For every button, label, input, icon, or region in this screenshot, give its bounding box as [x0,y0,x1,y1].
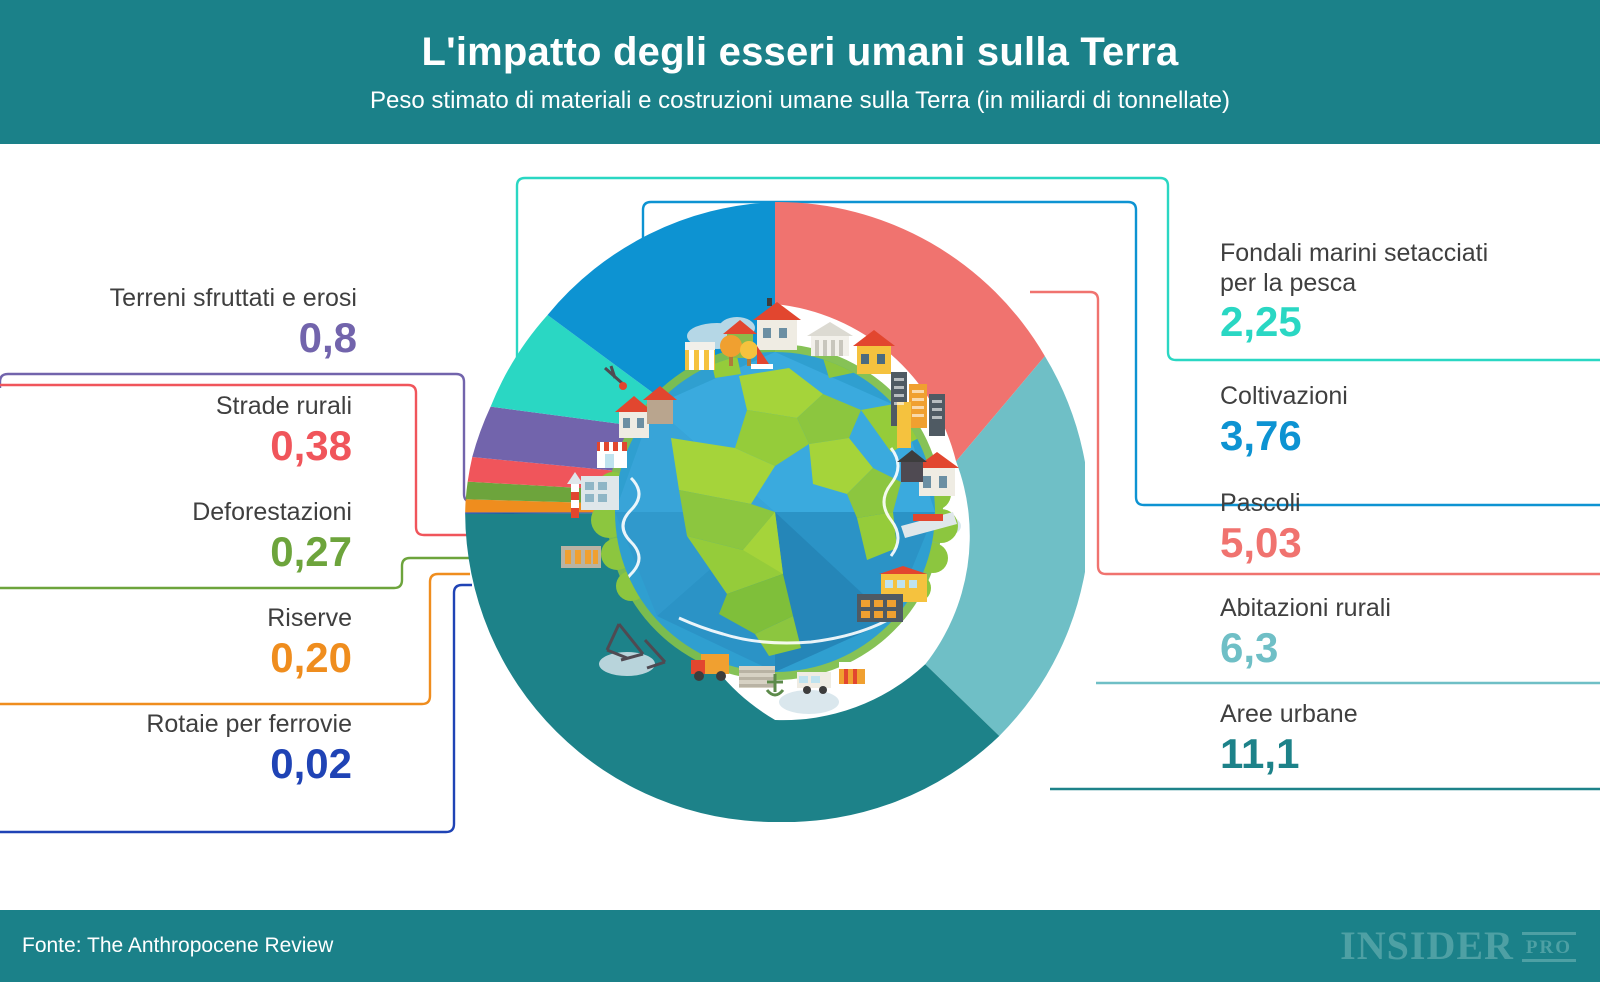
page-title: L'impatto degli esseri umani sulla Terra [422,30,1179,74]
label-terreni-name: Terreni sfruttati e erosi [110,284,357,314]
footer-banner: Fonte: The Anthropocene Review INSIDER P… [0,910,1600,982]
connector-riserve [0,574,470,704]
lighthouse-left [567,472,583,518]
shop-top [685,342,715,370]
label-strade-value: 0,38 [216,424,352,468]
label-urbane-name: Aree urbane [1220,700,1358,730]
antenna-left [605,366,627,390]
label-urbane-value: 11,1 [1220,732,1358,776]
label-abitazioni-value: 6,3 [1220,626,1391,670]
logo-pro-text: PRO [1522,932,1576,962]
label-riserve-name: Riserve [267,604,352,634]
label-coltivazioni-name: Coltivazioni [1220,382,1348,412]
label-terreni-value: 0,8 [110,316,357,360]
earth-globe-illustration [561,298,989,726]
donut-chart [465,202,1085,822]
label-fondali-value: 2,25 [1220,300,1488,344]
label-pascoli: Pascoli 5,03 [1220,489,1302,565]
container-left [561,546,601,568]
chart-canvas: Fondali marini setacciati per la pesca 2… [0,144,1600,910]
source-text: Fonte: The Anthropocene Review [22,934,333,958]
bank-building [807,322,853,356]
connector-rotaie [0,585,472,832]
label-pascoli-value: 5,03 [1220,521,1302,565]
house-top-1 [753,298,801,350]
label-coltivazioni-value: 3,76 [1220,414,1348,458]
label-deforestazioni: Deforestazioni 0,27 [192,498,352,574]
insider-pro-logo: INSIDER PRO [1340,926,1576,966]
label-rotaie-value: 0,02 [146,742,352,786]
label-deforestazioni-value: 0,27 [192,530,352,574]
label-abitazioni-name: Abitazioni rurali [1220,594,1391,624]
label-riserve: Riserve 0,20 [267,604,352,680]
label-rotaie: Rotaie per ferrovie 0,02 [146,710,352,786]
label-urbane: Aree urbane 11,1 [1220,700,1358,776]
tent-bottom [839,662,865,684]
label-fondali-name-line2: per la pesca [1220,269,1488,299]
label-strade: Strade rurali 0,38 [216,392,352,468]
infographic-root: L'impatto degli esseri umani sulla Terra… [0,0,1600,982]
header-banner: L'impatto degli esseri umani sulla Terra… [0,0,1600,144]
shop-left [597,442,627,468]
label-fondali-name-line1: Fondali marini setacciati [1220,239,1488,269]
logo-insider-text: INSIDER [1340,926,1514,966]
label-rotaie-name: Rotaie per ferrovie [146,710,352,740]
office-left [581,476,619,510]
house-top-3 [853,330,895,374]
warehouse-bottom [739,666,775,688]
label-strade-name: Strade rurali [216,392,352,422]
label-terreni: Terreni sfruttati e erosi 0,8 [110,284,357,360]
label-coltivazioni: Coltivazioni 3,76 [1220,382,1348,458]
label-riserve-value: 0,20 [267,636,352,680]
label-fondali: Fondali marini setacciati per la pesca 2… [1220,239,1488,344]
label-pascoli-name: Pascoli [1220,489,1302,519]
label-abitazioni: Abitazioni rurali 6,3 [1220,594,1391,670]
page-subtitle: Peso stimato di materiali e costruzioni … [370,88,1230,114]
label-deforestazioni-name: Deforestazioni [192,498,352,528]
